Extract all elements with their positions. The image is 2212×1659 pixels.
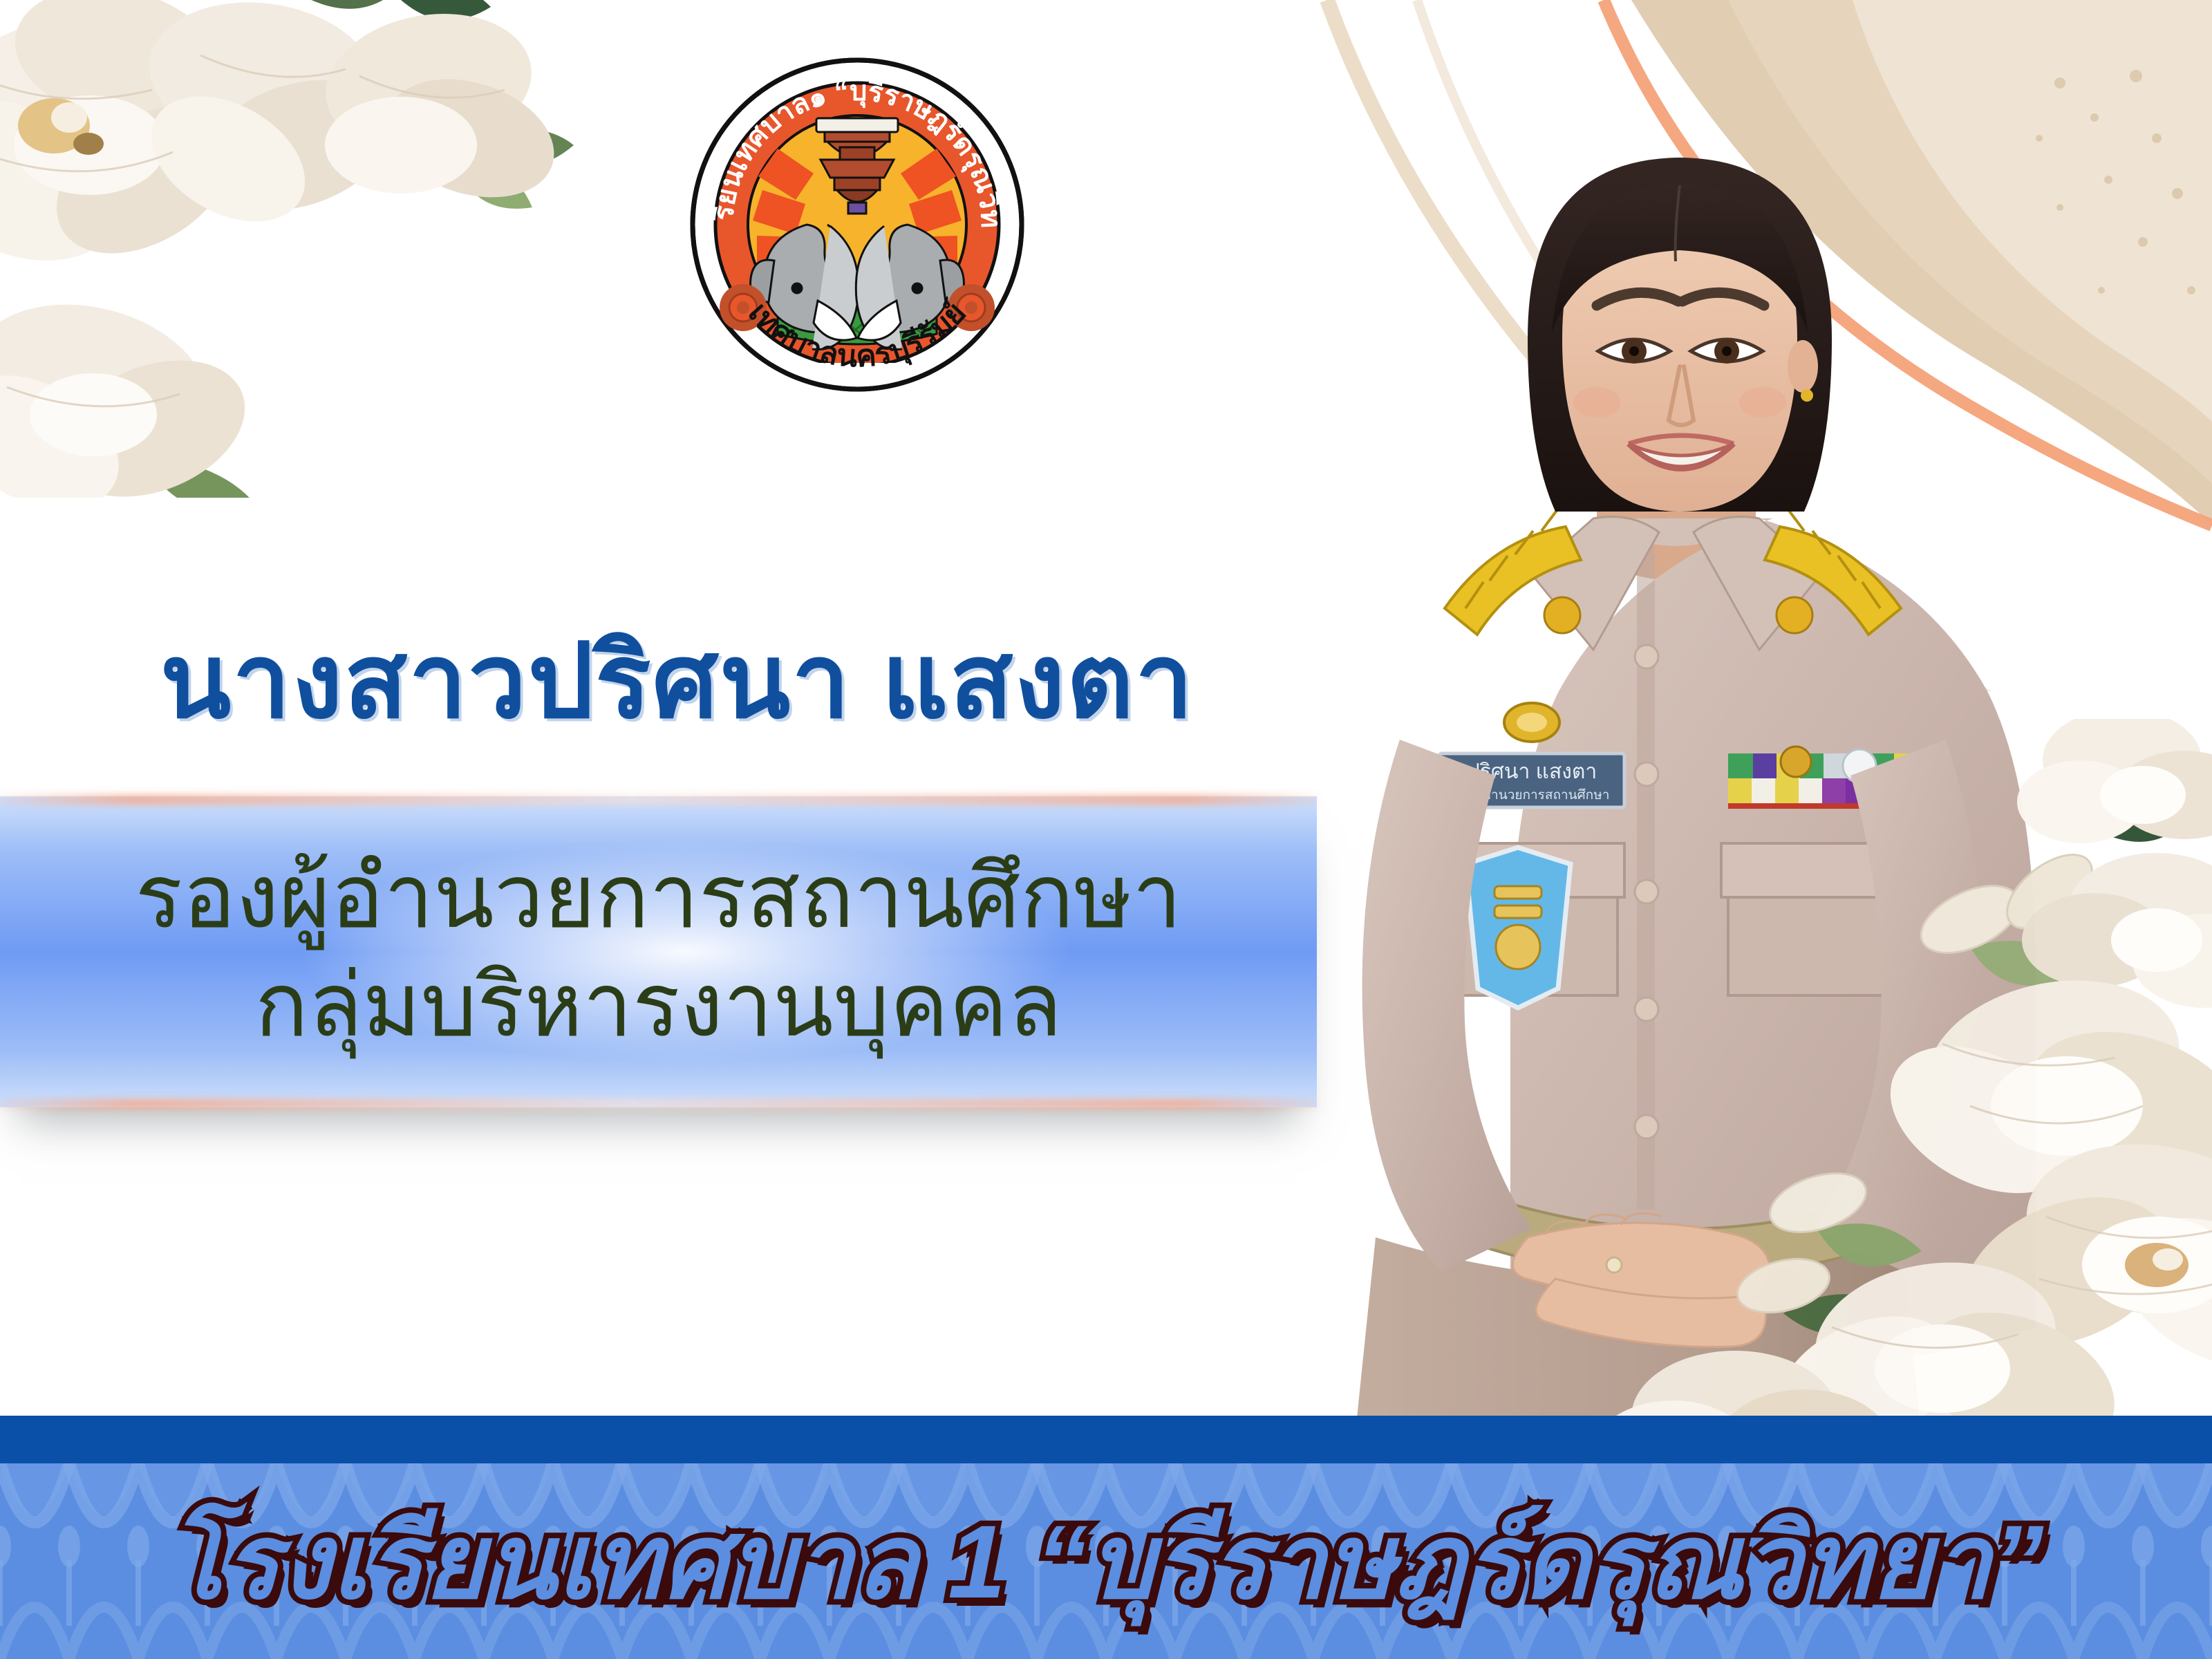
banner-text-wrap: โรงเรียนเทศบาล 1 “บุรีราษฎร์ดรุณวิทยา” bbox=[0, 1463, 2212, 1659]
uniform-brooch bbox=[1465, 847, 1571, 1008]
banner-school-name: โรงเรียนเทศบาล 1 “บุรีราษฎร์ดรุณวิทยา” bbox=[167, 1479, 2044, 1644]
top-left-floral-decoration bbox=[0, 0, 594, 498]
portrait-photo: ปริศนา แสงตา รองผู้อำนวยการสถานศึกษา bbox=[1237, 131, 2108, 1438]
bottom-banner: โรงเรียนเทศบาล 1 “บุรีราษฎร์ดรุณวิทยา” bbox=[0, 1416, 2212, 1659]
position-plate-text: รองผู้อำนวยการสถานศึกษา กลุ่มบริหารงานบุ… bbox=[0, 796, 1317, 1107]
poster-canvas: โรงเรียนเทศบาล๑ “บุรีราษฎร์ดรุณวิทยา” เท… bbox=[0, 0, 2212, 1659]
person-name: นางสาวปริศนา แสงตา bbox=[0, 608, 1355, 753]
person-name-text: นางสาวปริศนา แสงตา bbox=[160, 599, 1195, 763]
banner-body: โรงเรียนเทศบาล 1 “บุรีราษฎร์ดรุณวิทยา” bbox=[0, 1463, 2212, 1659]
position-line-1: รองผู้อำนวยการสถานศึกษา bbox=[135, 845, 1181, 950]
position-line-2: กลุ่มบริหารงานบุคคล bbox=[254, 954, 1062, 1058]
position-plate: รองผู้อำนวยการสถานศึกษา กลุ่มบริหารงานบุ… bbox=[0, 796, 1317, 1107]
banner-top-stripe bbox=[0, 1416, 2212, 1463]
school-logo: โรงเรียนเทศบาล๑ “บุรีราษฎร์ดรุณวิทยา” เท… bbox=[674, 17, 1040, 418]
